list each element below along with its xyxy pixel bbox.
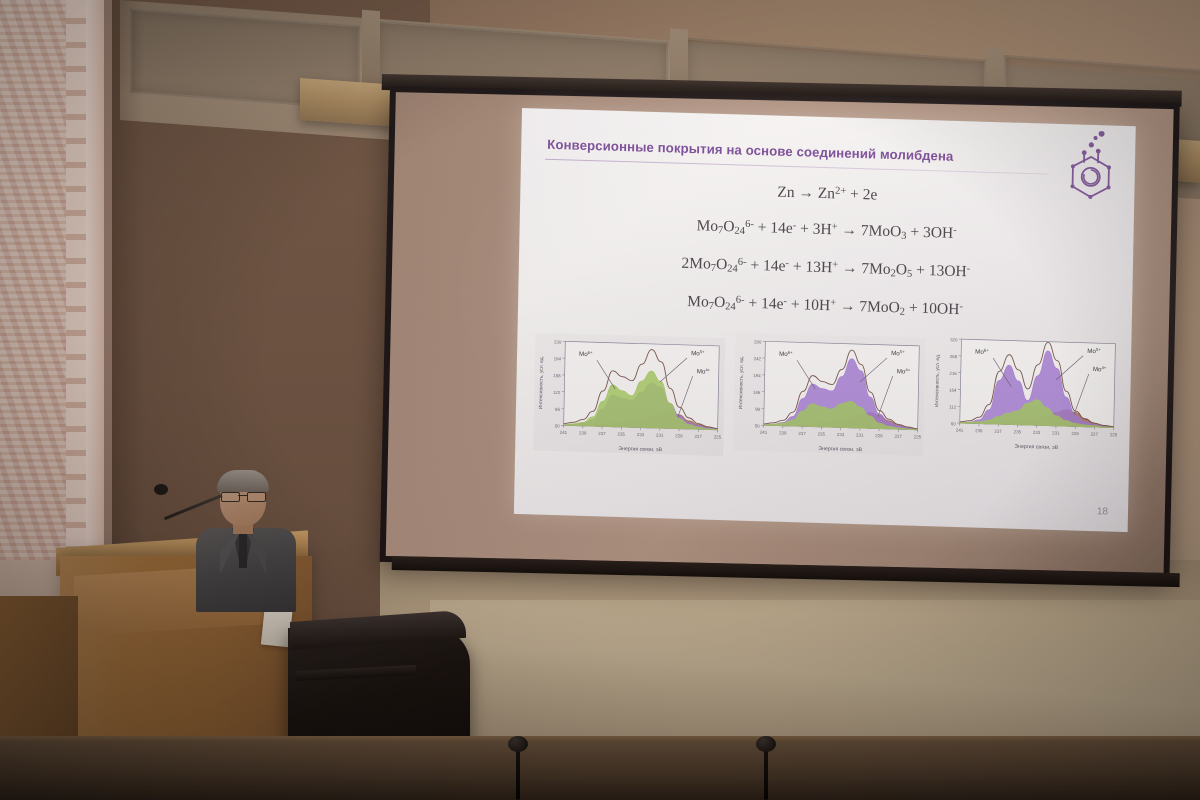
equation-2: Mo7O246- + 14e- + 3H+ → 7MoO3 + 3OH- bbox=[520, 212, 1134, 249]
stage-floor bbox=[0, 742, 1200, 800]
svg-text:227: 227 bbox=[895, 434, 903, 439]
svg-text:233: 233 bbox=[837, 432, 845, 437]
svg-text:229: 229 bbox=[875, 433, 883, 438]
xps-charts-row: 5086122158194230241239237235233231229227… bbox=[529, 332, 1123, 470]
equation-3: 2Mo7O246- + 14e- + 13H+ → 7Mo2O5 + 13OH- bbox=[519, 250, 1133, 287]
svg-text:50: 50 bbox=[555, 423, 561, 428]
lecture-hall-photo: Конверсионные покрытия на основе соедине… bbox=[0, 0, 1200, 800]
svg-text:268: 268 bbox=[950, 354, 958, 359]
xps-chart-2: 5098146194242290241239237235233231229227… bbox=[733, 332, 925, 456]
flask-molecule-logo bbox=[1060, 130, 1121, 202]
slide-number: 18 bbox=[1097, 506, 1108, 517]
svg-text:241: 241 bbox=[956, 428, 964, 433]
podium-microphone bbox=[154, 484, 168, 495]
svg-text:194: 194 bbox=[554, 356, 562, 361]
ornament-relief bbox=[0, 0, 66, 560]
eyeglasses-icon bbox=[220, 492, 266, 500]
svg-text:235: 235 bbox=[618, 431, 626, 436]
svg-text:86: 86 bbox=[555, 407, 561, 412]
svg-text:98: 98 bbox=[755, 407, 761, 412]
equation-1: Zn → Zn2+ + 2e bbox=[520, 176, 1134, 212]
svg-text:242: 242 bbox=[754, 356, 762, 361]
svg-text:241: 241 bbox=[760, 430, 768, 435]
svg-text:Интенсивность, усл. ед.: Интенсивность, усл. ед. bbox=[738, 356, 745, 409]
svg-text:146: 146 bbox=[753, 390, 761, 395]
xps-chart-1: 5086122158194230241239237235233231229227… bbox=[533, 332, 725, 456]
svg-text:235: 235 bbox=[818, 431, 826, 436]
svg-text:229: 229 bbox=[1071, 431, 1079, 436]
svg-text:227: 227 bbox=[694, 434, 702, 439]
svg-text:194: 194 bbox=[753, 373, 761, 378]
presenter-hair bbox=[217, 470, 269, 492]
svg-text:231: 231 bbox=[856, 433, 864, 438]
svg-text:230: 230 bbox=[554, 339, 562, 344]
svg-text:Энергия связи, эВ: Энергия связи, эВ bbox=[1014, 444, 1058, 451]
svg-text:290: 290 bbox=[754, 339, 762, 344]
svg-text:122: 122 bbox=[553, 390, 561, 395]
svg-text:231: 231 bbox=[656, 433, 664, 438]
svg-text:225: 225 bbox=[714, 434, 722, 439]
svg-text:60: 60 bbox=[951, 421, 957, 426]
svg-text:Энергия связи, эВ: Энергия связи, эВ bbox=[618, 446, 662, 453]
svg-text:225: 225 bbox=[914, 434, 922, 439]
svg-text:239: 239 bbox=[975, 428, 983, 433]
svg-text:164: 164 bbox=[949, 388, 957, 393]
svg-text:239: 239 bbox=[579, 430, 587, 435]
svg-text:241: 241 bbox=[560, 430, 568, 435]
slide-title: Конверсионные покрытия на основе соедине… bbox=[547, 137, 1047, 168]
svg-text:227: 227 bbox=[1091, 431, 1099, 436]
xps-chart-3: 6011216421626832024123923723523323122922… bbox=[929, 330, 1121, 454]
projected-slide: Конверсионные покрытия на основе соедине… bbox=[514, 108, 1136, 532]
svg-text:237: 237 bbox=[798, 431, 806, 436]
svg-text:Интенсивность, усл. ед.: Интенсивность, усл. ед. bbox=[538, 356, 545, 409]
svg-text:229: 229 bbox=[675, 433, 683, 438]
svg-text:Интенсивность, усл. ед.: Интенсивность, усл. ед. bbox=[934, 354, 941, 407]
presenter-at-podium bbox=[190, 470, 302, 610]
svg-text:233: 233 bbox=[1033, 430, 1041, 435]
svg-text:237: 237 bbox=[598, 431, 606, 436]
svg-text:233: 233 bbox=[637, 432, 645, 437]
svg-text:50: 50 bbox=[755, 423, 761, 428]
svg-text:237: 237 bbox=[994, 429, 1002, 434]
svg-text:231: 231 bbox=[1052, 430, 1060, 435]
svg-text:112: 112 bbox=[949, 404, 957, 409]
presenter-tie bbox=[239, 534, 247, 568]
svg-text:235: 235 bbox=[1014, 429, 1022, 434]
svg-text:320: 320 bbox=[950, 337, 958, 342]
svg-text:158: 158 bbox=[553, 373, 561, 378]
equation-4: Mo7O246- + 14e- + 10H+ → 7MoO2 + 10OH- bbox=[518, 288, 1132, 325]
svg-text:225: 225 bbox=[1110, 432, 1118, 437]
svg-text:216: 216 bbox=[949, 371, 957, 376]
svg-text:239: 239 bbox=[779, 430, 787, 435]
svg-text:Энергия связи, эВ: Энергия связи, эВ bbox=[818, 446, 862, 453]
